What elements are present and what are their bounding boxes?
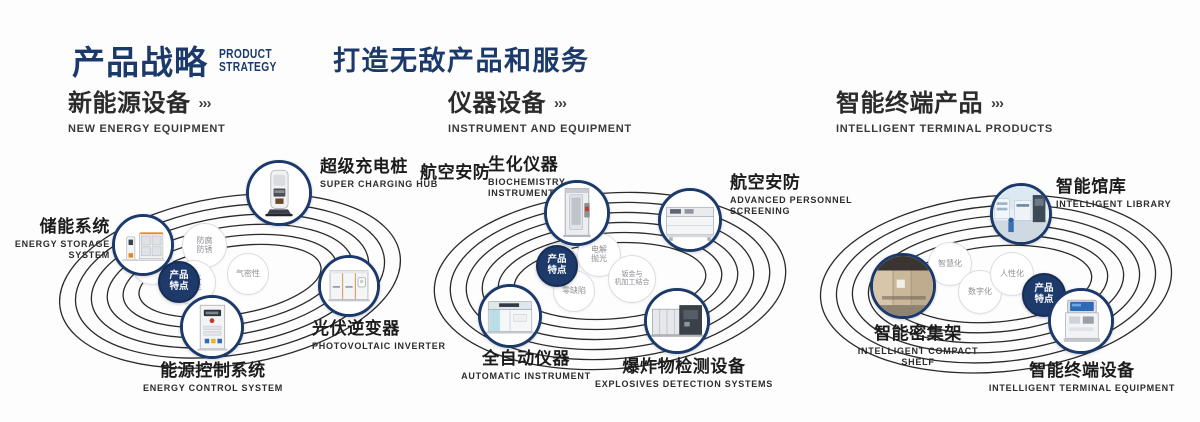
section-title-cn: 智能终端产品››› — [836, 92, 1053, 116]
bubble-line: 防锈 — [197, 246, 213, 255]
label-cn: 储能系统 — [2, 218, 110, 237]
section-title-intelligent-terminal: 智能终端产品››› INTELLIGENT TERMINAL PRODUCTS — [836, 92, 1053, 135]
label-en: ENERGY CONTROL SYSTEM — [78, 383, 348, 394]
cluster-intelligent-terminal: 智慧化 数字化 人性化 产品特点 — [800, 150, 1200, 412]
node-photovoltaic-inverter[interactable] — [318, 255, 380, 317]
section-title-en: NEW ENERGY EQUIPMENT — [68, 123, 225, 135]
chevron-right-triple-icon: ››› — [554, 96, 566, 111]
bubble-line: 数字化 — [968, 288, 992, 297]
bubble-line: 气密性 — [236, 270, 260, 279]
node-intelligent-compact-shelf[interactable] — [870, 253, 936, 319]
label-intelligent-terminal-equipment: 智能终端设备 INTELLIGENT TERMINAL EQUIPMENT — [948, 362, 1200, 394]
node-advanced-personnel-screening[interactable] — [658, 188, 722, 252]
section-title-en: INTELLIGENT TERMINAL PRODUCTS — [836, 123, 1053, 135]
label-cn: 智能终端设备 — [948, 362, 1200, 381]
page-subtitle: 打造无敌产品和服务 — [333, 48, 590, 75]
section-title-cn-text: 智能终端产品 — [836, 90, 983, 117]
section-title-cn-text: 仪器设备 — [448, 90, 546, 117]
section-title-new-energy: 新能源设备››› NEW ENERGY EQUIPMENT — [68, 92, 225, 135]
core-badge-line2: 特点 — [169, 282, 188, 293]
page-title: 产品战略 — [72, 46, 208, 79]
battery-cabinet-icon — [115, 217, 171, 273]
bubble-line: 智慧化 — [938, 260, 962, 269]
label-aviation-security: 航空安防 — [420, 164, 490, 183]
node-energy-control-system[interactable] — [180, 295, 244, 359]
core-badge-line2: 特点 — [547, 266, 566, 277]
label-energy-control-system: 能源控制系统 ENERGY CONTROL SYSTEM — [78, 362, 348, 394]
node-automatic-instrument[interactable] — [478, 284, 542, 348]
kiosk-terminal-icon — [1051, 291, 1111, 351]
bubble-line: 人性化 — [1000, 270, 1024, 279]
page-title-en: PRODUCT STRATEGY — [219, 48, 277, 74]
label-cn: 生化仪器 — [488, 156, 566, 175]
core-badge-product-features: 产品特点 — [536, 245, 578, 287]
label-en: ENERGY STORAGESYSTEM — [2, 239, 110, 262]
label-en: EXPLOSIVES DETECTION SYSTEMS — [540, 379, 828, 390]
bubble-line: 零缺陷 — [562, 287, 586, 296]
bubble-line: 机加工结合 — [615, 279, 650, 287]
auto-analyzer-icon — [481, 287, 539, 345]
screening-machine-icon — [661, 191, 719, 249]
feature-bubble-airtight: 气密性 — [227, 253, 269, 295]
node-energy-storage-system[interactable] — [112, 214, 174, 276]
section-title-cn: 仪器设备››› — [448, 92, 632, 116]
compact-shelf-icon — [873, 256, 933, 316]
control-cabinet-icon — [183, 298, 241, 356]
node-intelligent-library[interactable] — [990, 183, 1052, 245]
chevron-right-triple-icon: ››› — [199, 96, 211, 111]
bubble-line: 钣金与 — [615, 271, 650, 279]
explosive-detector-icon — [647, 291, 707, 351]
product-strategy-infographic: 产品战略 PRODUCT STRATEGY 打造无敌产品和服务 新能源设备›››… — [0, 0, 1200, 422]
label-cn: 能源控制系统 — [78, 362, 348, 381]
label-en: INTELLIGENT LIBRARY — [1056, 199, 1171, 210]
node-explosives-detection-systems[interactable] — [644, 288, 710, 354]
section-title-en: INSTRUMENT AND EQUIPMENT — [448, 123, 632, 135]
label-cn: 智能馆库 — [1056, 178, 1171, 197]
section-title-instrument: 仪器设备››› INSTRUMENT AND EQUIPMENT — [448, 92, 632, 135]
charging-pile-icon — [249, 163, 309, 223]
bubble-line: 抛光 — [591, 255, 607, 264]
page-title-en-line2: STRATEGY — [219, 61, 277, 74]
cluster-new-energy: 防腐防锈 户外 气密性 防水防尘 产品特点 — [30, 150, 430, 412]
page-header: 产品战略 PRODUCT STRATEGY 打造无敌产品和服务 — [0, 22, 1200, 78]
label-intelligent-library: 智能馆库 INTELLIGENT LIBRARY — [1056, 178, 1171, 210]
label-cn: 航空安防 — [420, 164, 490, 183]
inverter-cabinet-icon — [321, 258, 377, 314]
section-title-cn: 新能源设备››› — [68, 92, 225, 116]
label-en: INTELLIGENT TERMINAL EQUIPMENT — [948, 383, 1200, 394]
cluster-instrument: 镜面 电解抛光 零缺陷 钣金与机加工结合 产品特点 航空安防 — [410, 150, 810, 412]
section-title-cn-text: 新能源设备 — [68, 90, 191, 117]
label-biochemistry-instrument: 生化仪器 BIOCHEMISTRYINSTRUMENT — [488, 156, 566, 199]
node-super-charging-hub[interactable] — [246, 160, 312, 226]
label-en: BIOCHEMISTRYINSTRUMENT — [488, 177, 566, 200]
node-intelligent-terminal-equipment[interactable] — [1048, 288, 1114, 354]
label-energy-storage-system: 储能系统 ENERGY STORAGESYSTEM — [2, 218, 110, 261]
library-room-icon — [993, 186, 1049, 242]
chevron-right-triple-icon: ››› — [991, 96, 1003, 111]
label-cn: 智能密集架 — [780, 325, 1056, 344]
